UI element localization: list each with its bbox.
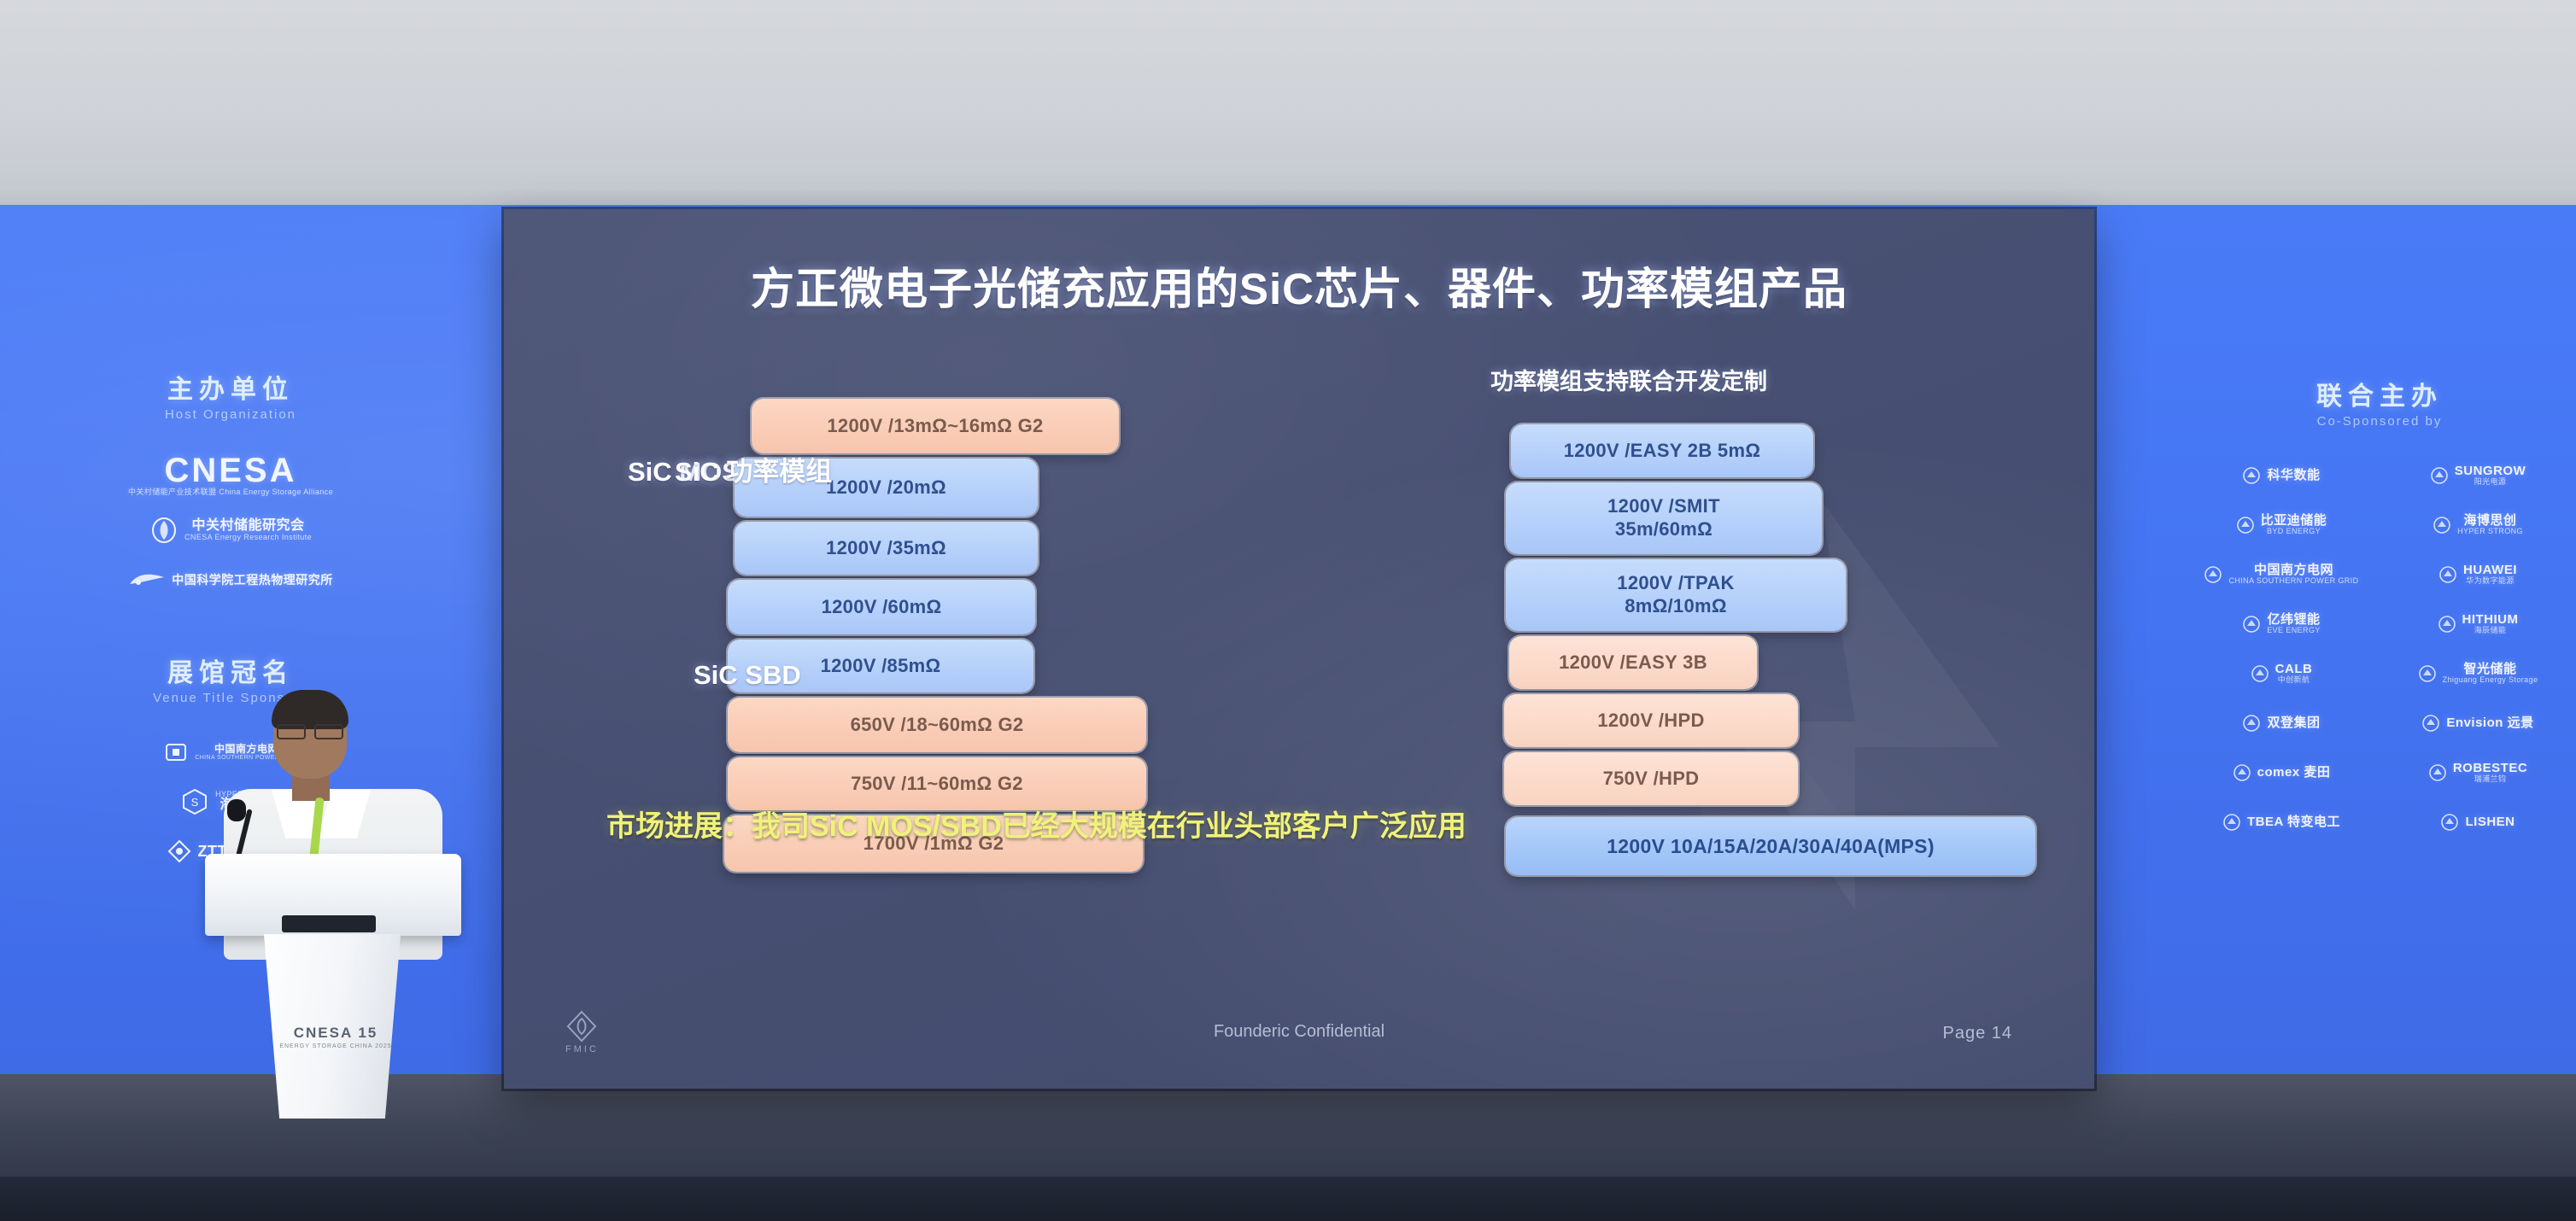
kehua-logo-label: 科华数能 — [2267, 469, 2320, 482]
list-item: SUNGROW阳光电源 — [2380, 451, 2576, 500]
china-southern-grid-logo — [163, 739, 189, 765]
robestec-logo — [2428, 763, 2447, 782]
confidential-notice: Founderic Confidential — [504, 1022, 2094, 1042]
eve-logo — [2242, 615, 2261, 634]
stage-floor-front — [0, 1177, 2576, 1221]
byd-logo — [2236, 516, 2255, 535]
envision-logo-label: Envision 远景 — [2446, 716, 2533, 730]
list-item: 科华数能 — [2183, 451, 2380, 500]
shuangdeng-logo-label: 双登集团 — [2267, 716, 2320, 730]
cnesa-research-label: 中关村储能研究会 CNESA Energy Research Institute — [184, 519, 312, 541]
list-item: 中关村储能研究会 CNESA Energy Research Institute — [51, 505, 410, 555]
sic-mos-chip: 1200V /13mΩ~16mΩ G2 — [752, 399, 1119, 453]
csg-logo-label: 中国南方电网CHINA SOUTHERN POWER GRID — [2228, 564, 2358, 585]
kehua-logo — [2242, 466, 2261, 485]
cosponsor-title-cn: 联合主办 — [2183, 383, 2576, 411]
byd-logo-label: 比亚迪储能BYD ENERGY — [2261, 514, 2327, 535]
list-item: comex 麦田 — [2183, 748, 2380, 797]
comex-logo-label: comex 麦田 — [2257, 766, 2331, 780]
sic-power-module-chip: 1200V /HPD — [1504, 694, 1798, 747]
list-item: 亿纬锂能EVE ENERGY — [2183, 599, 2380, 649]
zhiguang-logo-label: 智光储能Zhiguang Energy Storage — [2443, 663, 2538, 684]
sic-mos-chip: 1200V /35mΩ — [735, 522, 1038, 575]
list-item: 海博思创HYPER STRONG — [2380, 500, 2576, 550]
shuangdeng-logo — [2242, 714, 2261, 733]
podium-logo-main: CNESA 15 — [272, 1025, 400, 1042]
hithium-logo-label: HITHIUM海辰储能 — [2462, 613, 2519, 634]
podium-logo: CNESA 15 ENERGY STORAGE CHINA 2025 — [272, 1025, 400, 1049]
list-item: 智光储能Zhiguang Energy Storage — [2380, 649, 2576, 698]
podium-logo-sub: ENERGY STORAGE CHINA 2025 — [272, 1043, 400, 1049]
sungrow-logo-label: SUNGROW阳光电源 — [2455, 464, 2526, 486]
list-item: Envision 远景 — [2380, 698, 2576, 748]
hyperstrong-logo: S — [180, 787, 209, 816]
modules-subhead: 功率模组支持联合开发定制 — [1490, 363, 1767, 396]
cnesa-research-logo — [149, 516, 179, 545]
page-number: Page 14 — [1942, 1024, 2012, 1043]
venue-title-cn: 展馆冠名 — [51, 659, 410, 687]
list-item: 中国科学院工程热物理研究所 — [51, 555, 410, 605]
lishen-logo — [2440, 813, 2459, 832]
svg-text:S: S — [191, 796, 199, 809]
page-title: 方正微电子光储充应用的SiC芯片、器件、功率模组产品 — [504, 254, 2094, 317]
comex-logo — [2233, 763, 2251, 782]
lishen-logo-label: LISHEN — [2465, 815, 2515, 829]
list-item: CALB中创新航 — [2183, 649, 2380, 698]
sic-mos-chip: 1200V /60mΩ — [728, 580, 1035, 634]
list-item: HITHIUM海辰储能 — [2380, 599, 2576, 649]
list-item: ROBESTEC瑞浦兰钧 — [2380, 748, 2576, 797]
calb-logo — [2251, 664, 2269, 683]
sic-power-module-chip: 1200V /SMIT 35m/60mΩ — [1506, 482, 1822, 554]
eve-logo-label: 亿纬锂能EVE ENERGY — [2267, 613, 2321, 634]
co-sponsors-panel: 联合主办 Co-Sponsored by 科华数能SUNGROW阳光电源比亚迪储… — [2183, 383, 2576, 847]
glasses-icon — [277, 724, 343, 736]
conference-stage-photo: 主办单位 Host Organization CNESA 中关村储能产业技术联盟… — [0, 0, 2576, 1221]
list-item: CNESA 中关村储能产业技术联盟 China Energy Storage A… — [51, 444, 410, 505]
zhiguang-logo — [2418, 664, 2437, 683]
sic-power-module-chip: 1200V /EASY 2B 5mΩ — [1511, 424, 1813, 477]
list-item: TBEA 特变电工 — [2183, 797, 2380, 847]
list-item: 比亚迪储能BYD ENERGY — [2183, 500, 2380, 550]
robestec-logo-label: ROBESTEC瑞浦兰钧 — [2453, 762, 2527, 783]
tbea-logo — [2222, 813, 2241, 832]
sic-sbd-label: SiC SBD — [694, 660, 801, 691]
cas-label: 中国科学院工程热物理研究所 — [172, 574, 333, 587]
list-item: LISHEN — [2380, 797, 2576, 847]
envision-logo — [2421, 714, 2440, 733]
microphone-icon — [227, 799, 246, 821]
podium: CNESA 15 ENERGY STORAGE CHINA 2025 — [205, 854, 461, 1110]
sic-power-module-chip: 750V /HPD — [1504, 752, 1798, 805]
cnesa-logo: CNESA 中关村储能产业技术联盟 China Energy Storage A… — [128, 453, 333, 496]
sic-mos-chip: 650V /18~60mΩ G2 — [728, 698, 1146, 752]
list-item: 双登集团 — [2183, 698, 2380, 748]
sic-power-module-chip: 1200V /TPAK 8mΩ/10mΩ — [1506, 559, 1846, 631]
sungrow-logo — [2430, 466, 2449, 485]
sic-power-module-chip: 1200V /EASY 3B — [1509, 636, 1757, 689]
huawei-logo — [2438, 565, 2457, 584]
hyperstrong-logo — [2433, 516, 2451, 535]
host-organization-panel: 主办单位 Host Organization CNESA 中关村储能产业技术联盟… — [51, 376, 410, 605]
cosponsor-logo-grid: 科华数能SUNGROW阳光电源比亚迪储能BYD ENERGY海博思创HYPER … — [2183, 451, 2576, 847]
cosponsor-title-en: Co-Sponsored by — [2183, 414, 2576, 429]
ceiling — [0, 0, 2576, 212]
host-logo-grid: CNESA 中关村储能产业技术联盟 China Energy Storage A… — [51, 444, 410, 605]
list-item: 中国南方电网CHINA SOUTHERN POWER GRID — [2183, 550, 2380, 599]
hyperstrong-logo-label: 海博思创HYPER STRONG — [2457, 514, 2523, 535]
slide-footer: FMIC Founderic Confidential Page 14 — [504, 1022, 2094, 1060]
cas-logo — [128, 569, 166, 591]
sic-power-module-label: SiC 功率模组 — [675, 450, 832, 488]
huawei-logo-label: HUAWEI华为数字能源 — [2463, 564, 2517, 585]
host-title-en: Host Organization — [51, 407, 410, 422]
csg-logo — [2204, 565, 2222, 584]
podium-laptop — [282, 915, 376, 932]
calb-logo-label: CALB中创新航 — [2275, 663, 2313, 684]
host-title-cn: 主办单位 — [51, 376, 410, 404]
hithium-logo — [2438, 615, 2456, 634]
ztt-logo — [167, 838, 192, 864]
fmic-logo-text: FMIC — [565, 1044, 599, 1054]
list-item: HUAWEI华为数字能源 — [2380, 550, 2576, 599]
market-progress-note: 市场进展：我司SiC MOS/SBD已经大规模在行业头部客户广泛应用 — [606, 803, 2043, 844]
projection-screen-slide: 方正微电子光储充应用的SiC芯片、器件、功率模组产品 功率模组支持联合开发定制 … — [504, 209, 2094, 1089]
tbea-logo-label: TBEA 特变电工 — [2247, 815, 2340, 829]
